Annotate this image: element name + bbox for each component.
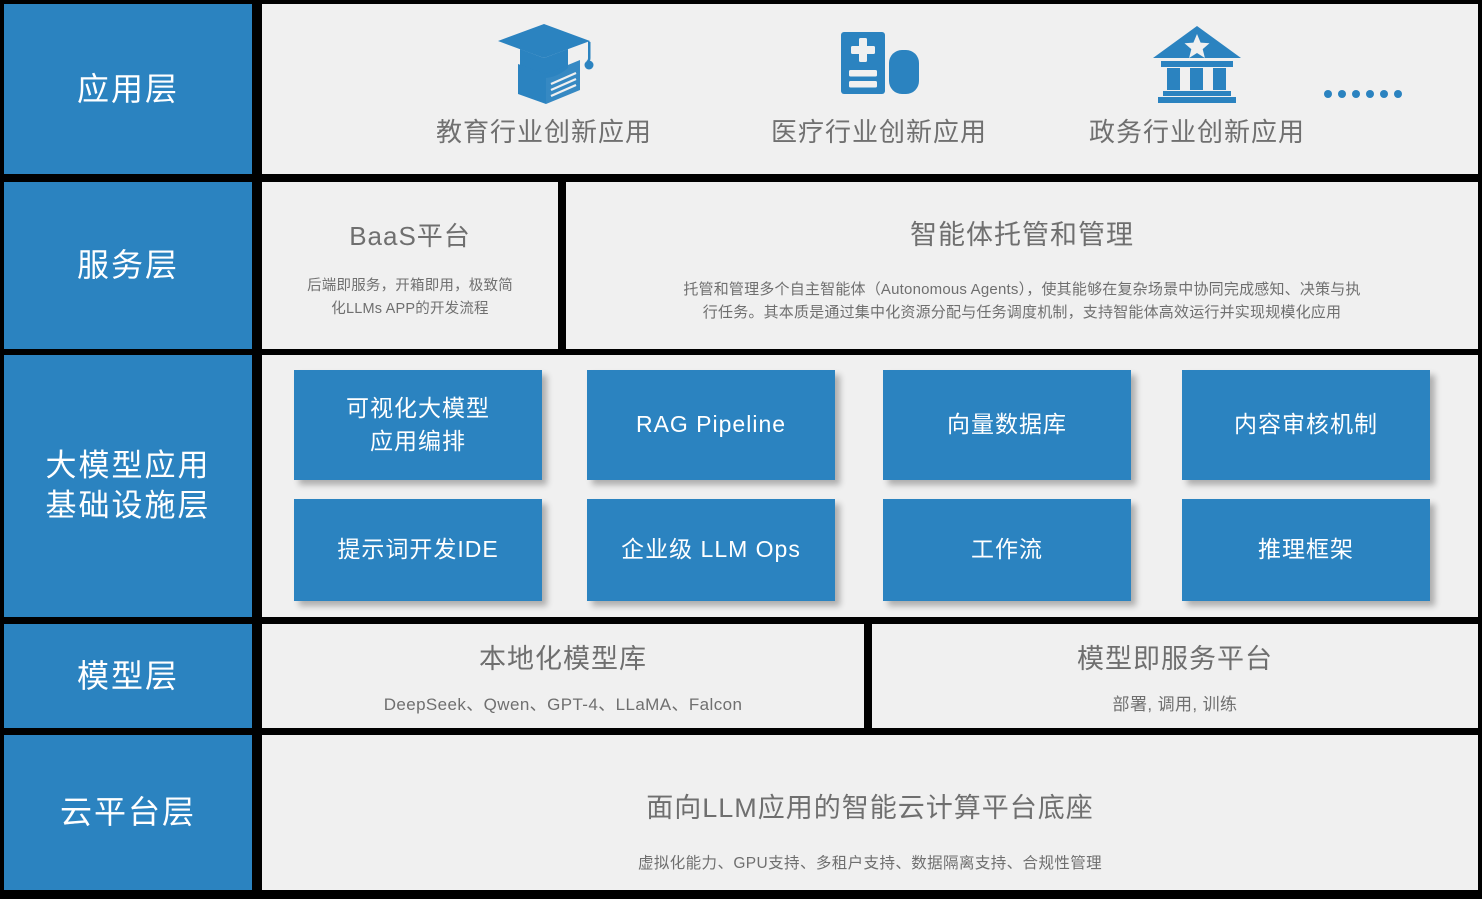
agent-hosting-description: 托管和管理多个自主智能体（Autonomous Agents），使其能够在复杂场… [683, 278, 1360, 325]
graduation-cap-book-icon [494, 22, 594, 104]
layer-label-service[interactable]: 服务层 [4, 182, 252, 349]
infra-tile-llm-ops[interactable]: 企业级 LLM Ops [587, 499, 835, 601]
local-model-repository-content: 本地化模型库 DeepSeek、Qwen、GPT-4、LLaMA、Falcon [262, 624, 864, 728]
infra-tile-prompt-ide[interactable]: 提示词开发IDE [294, 499, 542, 601]
local-model-repository-title: 本地化模型库 [479, 637, 647, 676]
app-item-education-caption: 教育行业创新应用 [436, 112, 652, 149]
infra-tile-llm-ops-label: 企业级 LLM Ops [621, 533, 801, 566]
baas-platform-title: BaaS平台 [349, 216, 471, 253]
app-item-government-caption: 政务行业创新应用 [1089, 112, 1305, 149]
app-item-government[interactable]: 政务行业创新应用 [1057, 22, 1337, 149]
app-item-education[interactable]: 教育行业创新应用 [404, 22, 684, 149]
local-model-repository-subtitle: DeepSeek、Qwen、GPT-4、LLaMA、Falcon [384, 690, 743, 715]
infra-tile-inference-framework[interactable]: 推理框架 [1182, 499, 1430, 601]
app-item-healthcare-caption: 医疗行业创新应用 [771, 112, 987, 149]
baas-platform-card[interactable]: BaaS平台 后端即服务，开箱即用，极致简 化LLMs APP的开发流程 [262, 182, 558, 349]
infra-tile-rag-pipeline-label: RAG Pipeline [636, 408, 786, 441]
maas-platform-content: 模型即服务平台 部署, 调用, 训练 [872, 624, 1478, 728]
infra-tile-vector-database-label: 向量数据库 [947, 408, 1067, 441]
infra-tile-visual-orchestration-label: 可视化大模型 应用编排 [346, 392, 490, 459]
infra-tile-content-moderation[interactable]: 内容审核机制 [1182, 370, 1430, 480]
layer-label-model-text: 模型层 [77, 656, 179, 697]
application-items-row: 教育行业创新应用 [262, 4, 1478, 174]
more-applications-ellipsis-icon [1324, 90, 1402, 98]
layer-label-application[interactable]: 应用层 [4, 4, 252, 174]
medical-record-icon [829, 22, 929, 104]
layer-label-cloud[interactable]: 云平台层 [4, 735, 252, 890]
agent-hosting-card[interactable]: 智能体托管和管理 托管和管理多个自主智能体（Autonomous Agents）… [566, 182, 1478, 349]
cloud-platform-card[interactable]: 面向LLM应用的智能云计算平台底座 虚拟化能力、GPU支持、多租户支持、数据隔离… [262, 735, 1478, 890]
cloud-platform-content: 面向LLM应用的智能云计算平台底座 虚拟化能力、GPU支持、多租户支持、数据隔离… [262, 735, 1478, 890]
maas-platform-card[interactable]: 模型即服务平台 部署, 调用, 训练 [872, 624, 1478, 728]
infra-tile-prompt-ide-label: 提示词开发IDE [337, 533, 498, 566]
layer-label-model[interactable]: 模型层 [4, 624, 252, 728]
app-item-healthcare[interactable]: 医疗行业创新应用 [739, 22, 1019, 149]
layer-label-cloud-text: 云平台层 [60, 792, 196, 833]
layer-label-service-text: 服务层 [77, 245, 179, 286]
cloud-platform-subtitle: 虚拟化能力、GPU支持、多租户支持、数据隔离支持、合规性管理 [638, 851, 1102, 873]
agent-hosting-content: 智能体托管和管理 托管和管理多个自主智能体（Autonomous Agents）… [566, 182, 1478, 349]
maas-platform-title: 模型即服务平台 [1077, 637, 1273, 676]
local-model-repository-card[interactable]: 本地化模型库 DeepSeek、Qwen、GPT-4、LLaMA、Falcon [262, 624, 864, 728]
infra-tile-content-moderation-label: 内容审核机制 [1234, 408, 1378, 441]
infra-tile-inference-framework-label: 推理框架 [1258, 533, 1354, 566]
infra-tile-visual-orchestration[interactable]: 可视化大模型 应用编排 [294, 370, 542, 480]
cloud-platform-title: 面向LLM应用的智能云计算平台底座 [646, 786, 1094, 825]
government-building-icon [1149, 22, 1245, 104]
infra-tile-rag-pipeline[interactable]: RAG Pipeline [587, 370, 835, 480]
baas-platform-description: 后端即服务，开箱即用，极致简 化LLMs APP的开发流程 [307, 275, 513, 321]
infra-tile-vector-database[interactable]: 向量数据库 [883, 370, 1131, 480]
architecture-diagram: 应用层 服务层 大模型应用 基础设施层 模型层 云平台层 [0, 0, 1482, 899]
agent-hosting-title: 智能体托管和管理 [910, 213, 1134, 252]
infrastructure-layer-panel: 可视化大模型 应用编排 RAG Pipeline 向量数据库 内容审核机制 提示… [262, 355, 1478, 617]
layer-label-infrastructure[interactable]: 大模型应用 基础设施层 [4, 355, 252, 617]
baas-platform-content: BaaS平台 后端即服务，开箱即用，极致简 化LLMs APP的开发流程 [262, 182, 558, 349]
layer-label-application-text: 应用层 [77, 69, 179, 110]
infra-tile-workflow[interactable]: 工作流 [883, 499, 1131, 601]
infra-tile-workflow-label: 工作流 [971, 533, 1043, 566]
layer-label-infrastructure-text: 大模型应用 基础设施层 [46, 446, 211, 525]
application-layer-panel: 教育行业创新应用 [262, 4, 1478, 174]
maas-platform-subtitle: 部署, 调用, 训练 [1113, 690, 1238, 715]
